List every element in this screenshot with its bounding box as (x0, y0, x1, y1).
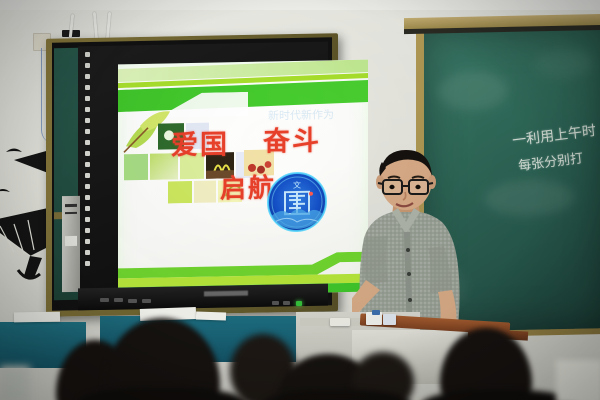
classroom-photo: 新时代新作为 (0, 0, 600, 400)
scene-shading (0, 0, 600, 400)
